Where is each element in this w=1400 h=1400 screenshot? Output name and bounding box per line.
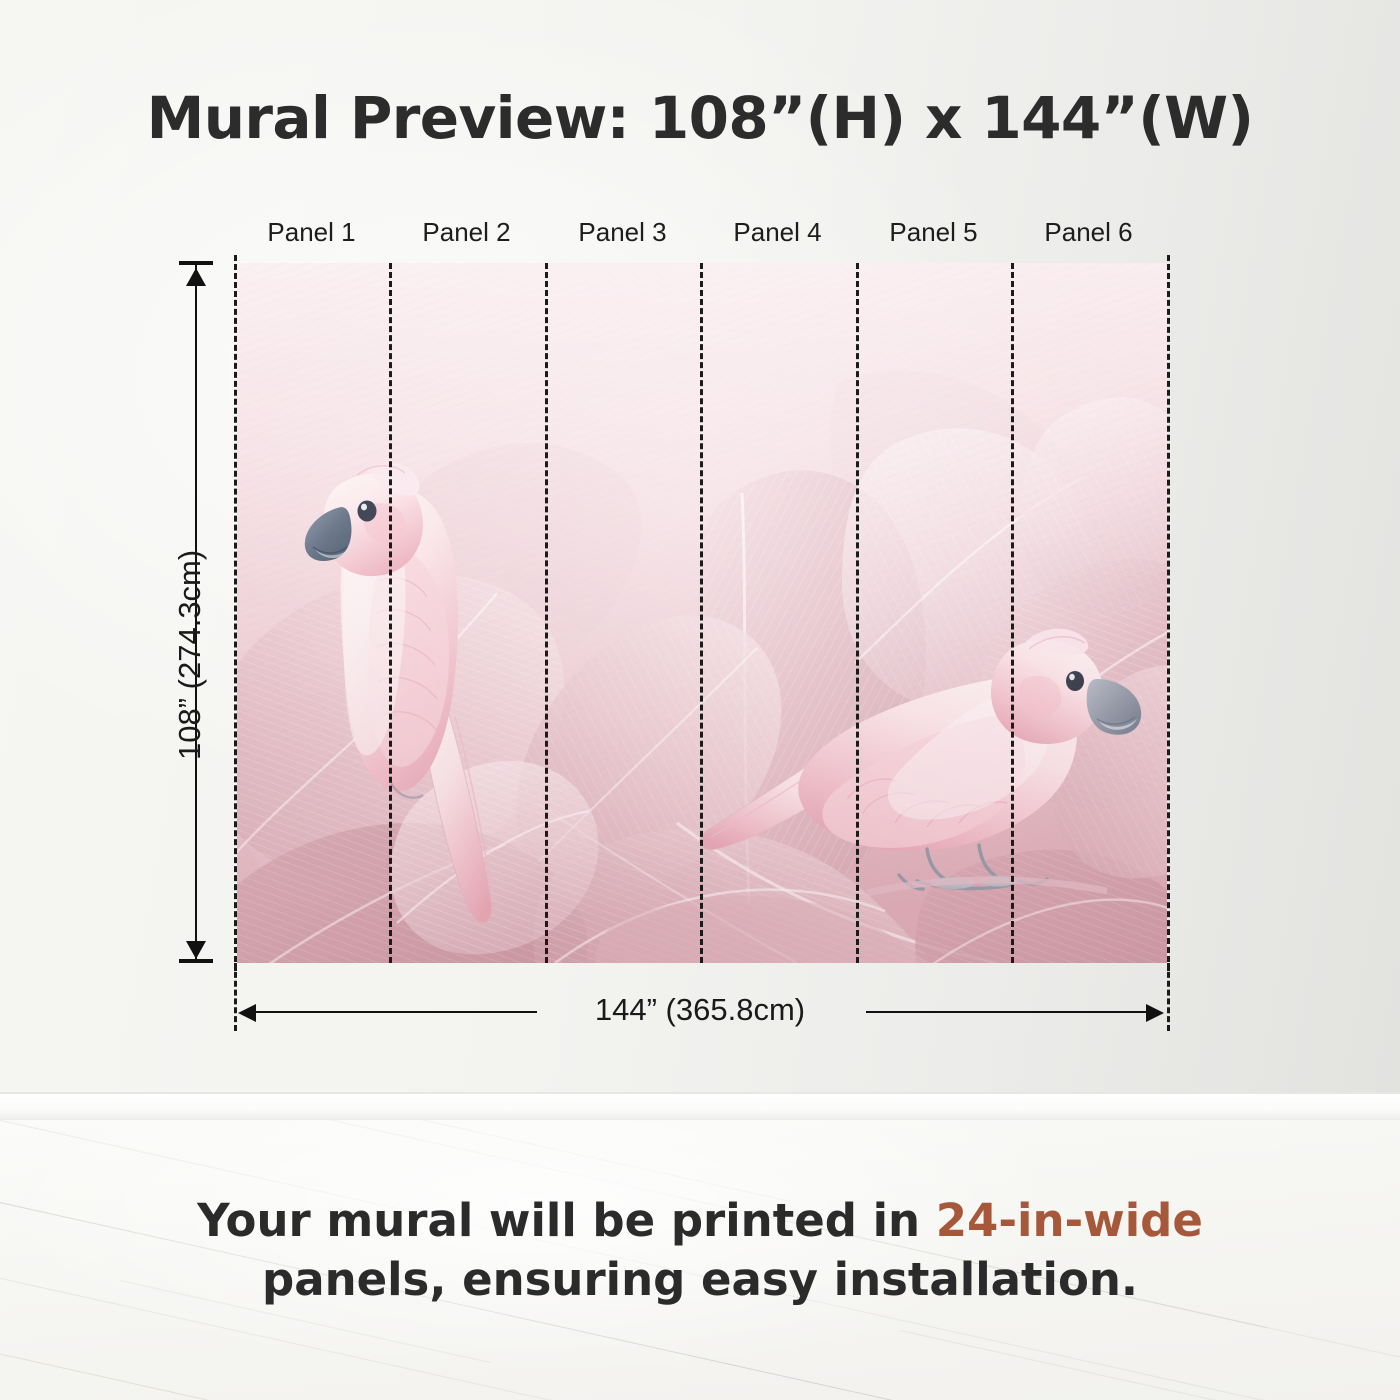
width-label: 144” (365.8cm) <box>0 992 1400 1028</box>
height-label: 108” (274.3cm) <box>172 550 208 760</box>
panel-divider-2 <box>545 263 548 963</box>
panel-label-6: Panel 6 <box>1011 217 1166 248</box>
panel-divider-5 <box>1011 263 1014 963</box>
mural-preview-page: Panel 1 Panel 2 Panel 3 Panel 4 Panel 5 … <box>0 0 1400 1400</box>
footer-caption: Your mural will be printed in 24-in-wide… <box>0 1192 1400 1309</box>
height-arrow-down <box>186 941 206 959</box>
caption-text-before: Your mural will be printed in <box>197 1194 936 1247</box>
baseboard <box>0 1094 1400 1122</box>
panel-divider-3 <box>700 263 703 963</box>
height-arrow-up <box>186 268 206 286</box>
mural-edge-left <box>234 255 237 971</box>
panel-label-2: Panel 2 <box>389 217 544 248</box>
page-title: Mural Preview: 108”(H) x 144”(W) <box>0 84 1400 152</box>
width-label-text: 144” (365.8cm) <box>579 992 821 1027</box>
caption-line-2: panels, ensuring easy installation. <box>0 1251 1400 1310</box>
panel-divider-1 <box>389 263 392 963</box>
mural-edge-right <box>1167 255 1170 971</box>
panel-label-5: Panel 5 <box>856 217 1011 248</box>
panel-divider-4 <box>856 263 859 963</box>
caption-line-1: Your mural will be printed in 24-in-wide <box>0 1192 1400 1251</box>
caption-accent: 24-in-wide <box>936 1194 1203 1247</box>
panel-label-1: Panel 1 <box>234 217 389 248</box>
panel-label-3: Panel 3 <box>545 217 700 248</box>
panel-label-4: Panel 4 <box>700 217 855 248</box>
